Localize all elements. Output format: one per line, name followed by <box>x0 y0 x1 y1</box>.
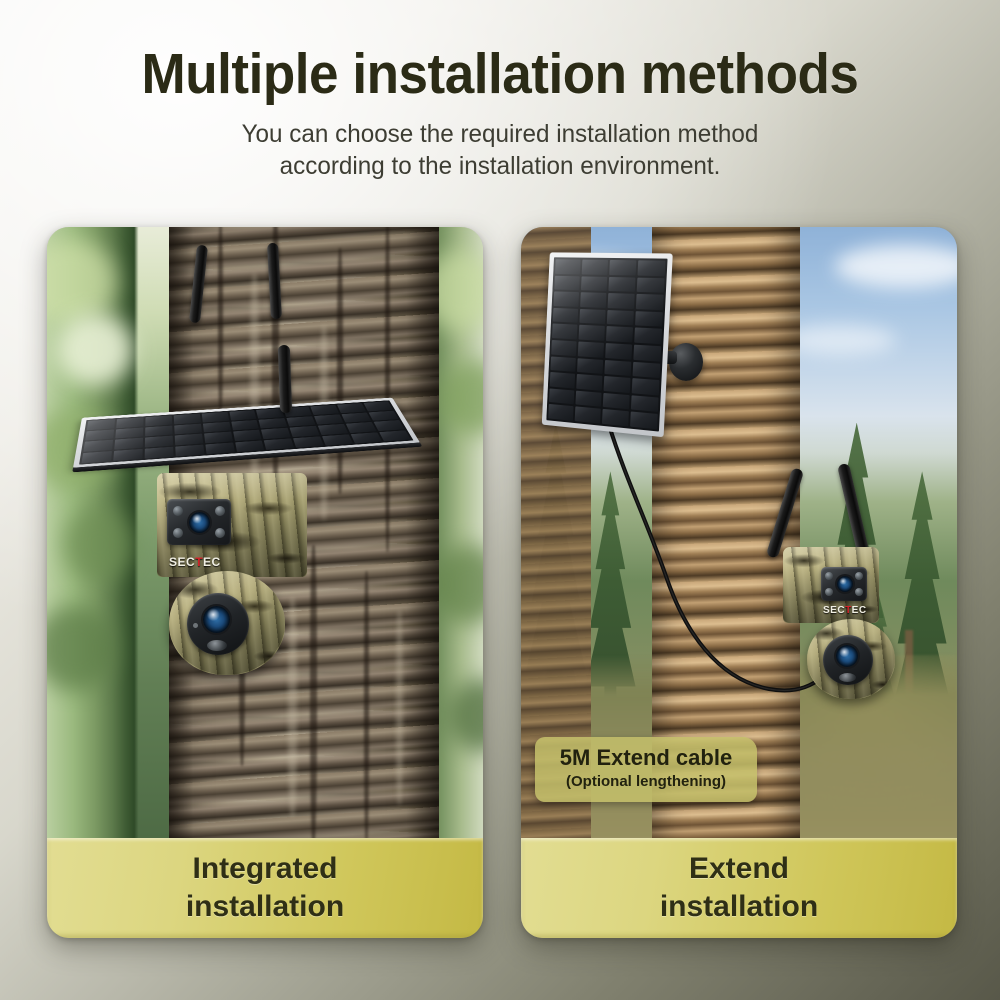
extend-cable-badge: 5M Extend cable (Optional lengthening) <box>535 737 757 802</box>
solar-cell <box>174 423 202 434</box>
solar-cell <box>553 308 579 323</box>
subtitle-line-1: You can choose the required installation… <box>15 118 985 150</box>
brand-prefix: SEC <box>169 555 195 569</box>
caption-extend-installation: Extend installation <box>521 838 957 938</box>
bark-detail <box>385 227 390 552</box>
solar-cell <box>604 360 631 376</box>
solar-cell <box>550 372 575 388</box>
bark-detail <box>218 227 223 416</box>
solar-cell <box>633 345 661 362</box>
solar-cell <box>204 432 233 443</box>
solar-cell <box>631 395 659 412</box>
solar-cell <box>555 259 581 274</box>
ptz-lens-housing <box>823 635 873 685</box>
solar-cell <box>577 358 603 374</box>
solar-cell <box>341 412 371 422</box>
camera-lens-fixed <box>189 512 210 533</box>
card-extend-installation[interactable]: SECTEC 5M Extend cable (Optional lengthe… <box>521 227 957 938</box>
solar-cell <box>203 422 231 433</box>
brand-suffix: EC <box>852 605 867 616</box>
solar-cell <box>322 434 353 446</box>
pir-sensor <box>207 640 227 651</box>
solar-cell <box>174 434 202 445</box>
solar-cell <box>175 444 204 456</box>
solar-cell <box>290 426 320 437</box>
ptz-lens-housing <box>187 593 249 655</box>
camera-lens-ptz <box>836 645 858 667</box>
solar-cell <box>369 410 399 420</box>
solar-cell <box>259 418 288 429</box>
solar-cell <box>346 422 377 433</box>
solar-cell <box>113 449 142 461</box>
solar-cell <box>231 420 259 431</box>
pir-sensor <box>839 673 856 682</box>
ir-lens-module <box>821 567 867 601</box>
solar-cell <box>145 436 173 448</box>
solar-cell <box>608 293 635 309</box>
solar-cell <box>605 343 632 359</box>
foliage-bokeh <box>56 313 134 386</box>
solar-cell <box>261 428 290 439</box>
solar-cell <box>235 440 265 452</box>
solar-cell <box>548 404 573 421</box>
ir-lens-module <box>167 499 231 545</box>
solar-cell <box>630 412 658 429</box>
ir-led <box>855 588 863 596</box>
solar-cell <box>144 446 173 458</box>
solar-cell <box>575 407 601 424</box>
camera-lens-ptz <box>203 606 230 633</box>
solar-cell <box>576 374 602 390</box>
ir-led <box>825 588 833 596</box>
foliage-bokeh <box>64 508 134 581</box>
solar-cell <box>638 260 666 275</box>
solar-cell <box>609 260 636 275</box>
page-title: Multiple installation methods <box>35 44 965 104</box>
solar-cell <box>293 436 324 448</box>
bark-detail <box>288 597 297 817</box>
solar-cell <box>116 417 143 428</box>
solar-cell <box>287 416 316 427</box>
solar-cell <box>205 442 234 454</box>
solar-cell <box>173 414 200 424</box>
solar-cell <box>606 326 633 342</box>
solar-cell <box>582 260 608 275</box>
solar-cell <box>579 325 605 341</box>
solar-cell <box>603 393 630 410</box>
brand-accent-letter: T <box>195 555 203 569</box>
antenna <box>278 345 292 413</box>
brand-logo: SECTEC <box>823 605 867 616</box>
solar-cell <box>364 401 393 411</box>
solar-cell <box>85 429 114 440</box>
caption-line-1: Integrated <box>192 850 337 888</box>
card-integrated-installation[interactable]: SECTEC Integrated installation <box>47 227 483 938</box>
bark-detail <box>337 248 343 494</box>
brand-suffix: EC <box>203 555 221 569</box>
solar-cell <box>632 378 660 395</box>
solar-cell <box>637 277 665 293</box>
solar-cell <box>580 292 606 307</box>
bark-detail <box>250 273 259 493</box>
solar-cell <box>607 310 634 326</box>
solar-cell <box>551 340 576 356</box>
caption-line-1: Extend <box>689 850 789 888</box>
solar-cell <box>337 403 366 413</box>
ir-led <box>215 506 225 516</box>
ir-led <box>215 528 225 538</box>
solar-cell <box>579 309 605 325</box>
bark-detail <box>396 610 403 804</box>
solar-cell <box>145 425 172 436</box>
solar-cell <box>145 416 172 427</box>
solar-cell <box>379 430 411 441</box>
solar-cell <box>233 430 262 441</box>
solar-cell <box>81 451 111 463</box>
caption-integrated-installation: Integrated installation <box>47 838 483 938</box>
header: Multiple installation methods You can ch… <box>0 0 1000 182</box>
solar-cell <box>578 341 604 357</box>
solar-cell <box>374 420 405 431</box>
solar-cell <box>87 419 115 430</box>
caption-line-2: installation <box>660 888 818 926</box>
solar-cell <box>634 328 662 344</box>
badge-subtitle: (Optional lengthening) <box>545 772 747 792</box>
solar-cell <box>553 292 579 307</box>
solar-cell <box>549 388 574 404</box>
solar-cell <box>636 294 664 310</box>
status-led <box>193 623 198 628</box>
solar-cell <box>633 361 661 378</box>
badge-title: 5M Extend cable <box>545 745 747 771</box>
solar-cell <box>635 311 663 327</box>
brand-accent-letter: T <box>845 605 852 616</box>
page-subtitle: You can choose the required installation… <box>15 118 985 182</box>
bark-detail <box>364 571 369 838</box>
subtitle-line-2: according to the installation environmen… <box>15 150 985 182</box>
solar-cell <box>83 440 113 452</box>
bark-detail <box>310 545 317 838</box>
solar-cell <box>229 410 257 420</box>
solar-cell <box>264 438 294 450</box>
solar-cell <box>602 409 629 426</box>
solar-cell <box>581 276 607 291</box>
solar-cell <box>318 424 348 435</box>
photo-extend-installation: SECTEC 5M Extend cable (Optional lengthe… <box>521 227 957 838</box>
solar-panel <box>542 252 673 437</box>
camera-lens-fixed <box>837 576 853 592</box>
ir-led <box>825 572 833 580</box>
solar-cell <box>554 275 580 290</box>
solar-cell <box>575 390 601 407</box>
solar-cell <box>550 356 575 372</box>
solar-cell <box>114 438 143 450</box>
solar-cell <box>552 324 578 340</box>
ir-led <box>173 528 183 538</box>
brand-logo: SECTEC <box>169 555 221 569</box>
caption-line-2: installation <box>186 888 344 926</box>
solar-cell <box>314 414 343 424</box>
solar-cell <box>351 432 382 443</box>
installation-methods-gallery: SECTEC Integrated installation <box>0 227 1000 939</box>
photo-integrated-installation: SECTEC <box>47 227 483 838</box>
solar-cell <box>608 277 635 292</box>
ir-led <box>855 572 863 580</box>
brand-prefix: SEC <box>823 605 845 616</box>
solar-cell <box>201 412 228 422</box>
ir-led <box>173 506 183 516</box>
solar-cell <box>604 376 631 393</box>
solar-cell <box>310 405 339 415</box>
solar-cell <box>115 427 143 438</box>
